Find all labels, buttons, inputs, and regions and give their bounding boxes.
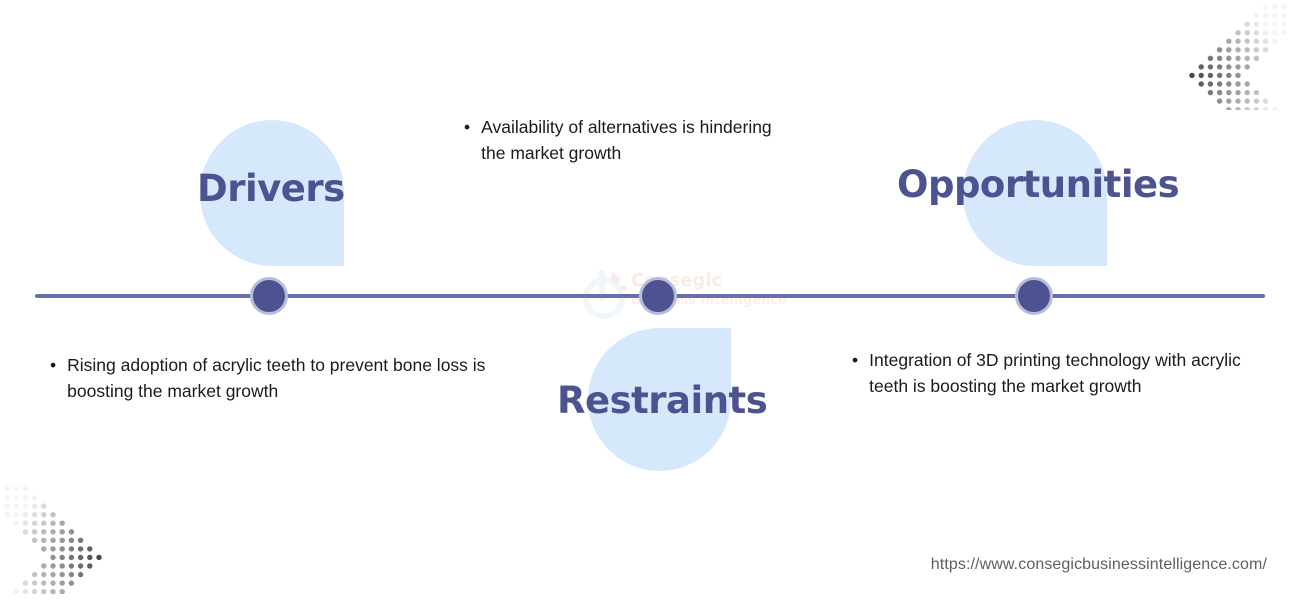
slide-canvas: Consegic Business Intelligence Drivers R…: [0, 0, 1289, 600]
footer-url[interactable]: https://www.consegicbusinessintelligence…: [931, 556, 1267, 574]
drivers-bullet-text: Rising adoption of acrylic teeth to prev…: [67, 353, 500, 404]
dot-chevron-left-icon: [1186, 0, 1289, 110]
timeline-dot-restraints-icon[interactable]: [639, 277, 677, 315]
opportunities-bullet: • Integration of 3D printing technology …: [852, 348, 1262, 399]
opportunities-bullet-text: Integration of 3D printing technology wi…: [869, 348, 1262, 399]
bullet-marker-icon: •: [464, 115, 470, 141]
drivers-title: Drivers: [197, 167, 345, 210]
consegic-b-logo-icon: [583, 264, 627, 320]
restraints-bullet: • Availability of alternatives is hinder…: [464, 115, 794, 166]
bullet-marker-icon: •: [50, 353, 56, 379]
restraints-bullet-text: Availability of alternatives is hinderin…: [481, 115, 794, 166]
opportunities-title: Opportunities: [897, 163, 1179, 206]
timeline-dot-opportunities-icon[interactable]: [1015, 277, 1053, 315]
bullet-marker-icon: •: [852, 348, 858, 374]
dot-chevron-right-icon: [2, 482, 105, 594]
drivers-bullet: • Rising adoption of acrylic teeth to pr…: [50, 353, 500, 404]
restraints-title: Restraints: [557, 379, 767, 422]
timeline-dot-drivers-icon[interactable]: [250, 277, 288, 315]
